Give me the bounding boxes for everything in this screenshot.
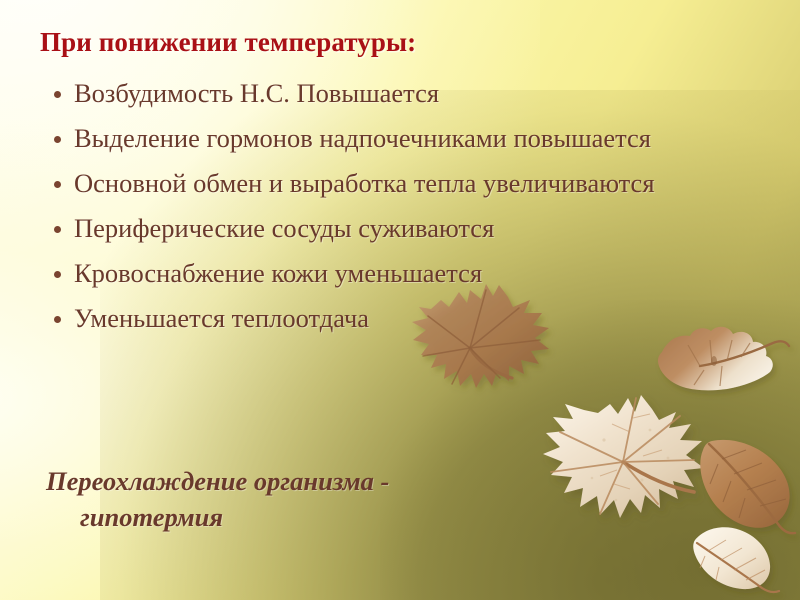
closing-line-2: гипотермия <box>46 499 666 535</box>
slide-content: При понижении температуры: Возбудимость … <box>0 0 800 600</box>
presentation-slide: При понижении температуры: Возбудимость … <box>0 0 800 600</box>
list-item: Периферические сосуды суживаются <box>46 211 726 246</box>
list-item: Возбудимость Н.С. Повышается <box>46 76 726 111</box>
list-item: Кровоснабжение кожи уменьшается <box>46 256 726 291</box>
closing-line-1: Переохлаждение организма - <box>46 466 389 496</box>
list-item: Уменьшается теплоотдача <box>46 301 726 336</box>
list-item: Выделение гормонов надпочечниками повыша… <box>46 121 726 156</box>
closing-statement: Переохлаждение организма - гипотермия <box>46 463 666 535</box>
list-item: Основной обмен и выработка тепла увеличи… <box>46 166 726 201</box>
bullet-list: Возбудимость Н.С. Повышается Выделение г… <box>46 76 726 346</box>
page-title: При понижении температуры: <box>40 27 600 58</box>
